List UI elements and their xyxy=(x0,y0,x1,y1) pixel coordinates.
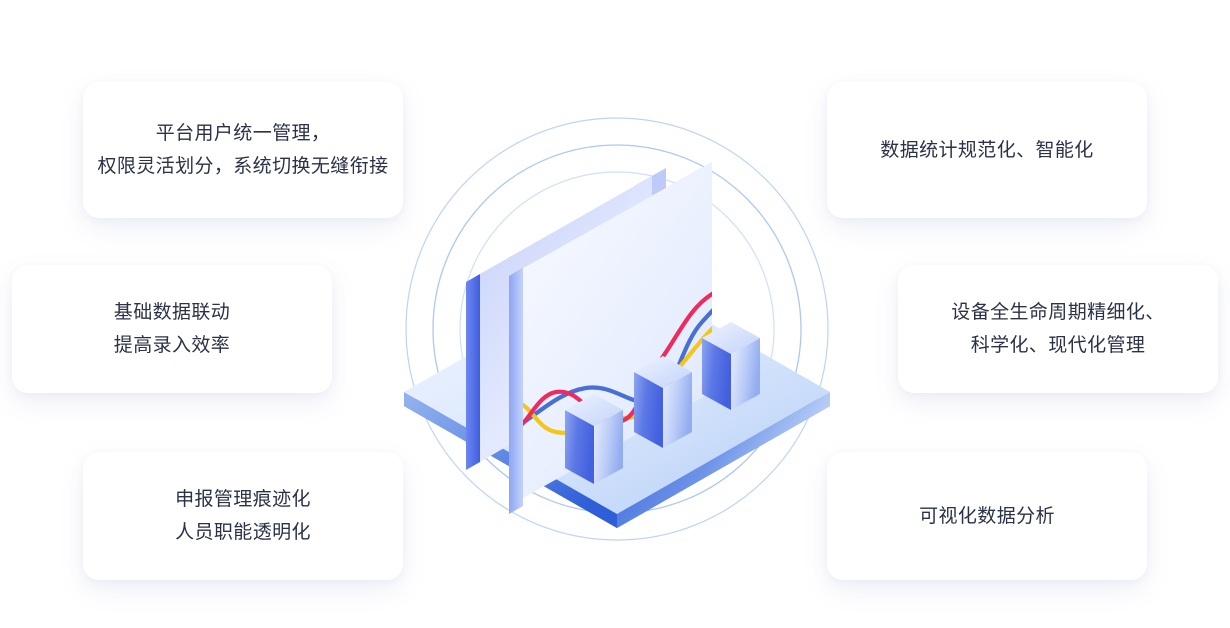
feature-card-text: 平台用户统一管理， 权限灵活划分，系统切换无缝衔接 xyxy=(97,117,388,183)
feature-card-text: 可视化数据分析 xyxy=(919,500,1055,533)
feature-card-declaration-management[interactable]: 申报管理痕迹化 人员职能透明化 xyxy=(83,452,403,580)
bar-2 xyxy=(634,356,692,448)
feature-card-basic-data-linkage[interactable]: 基础数据联动 提高录入效率 xyxy=(12,265,332,393)
feature-card-equipment-lifecycle[interactable]: 设备全生命周期精细化、 科学化、现代化管理 xyxy=(898,265,1218,393)
feature-card-text: 基础数据联动 提高录入效率 xyxy=(114,296,230,362)
feature-card-visual-data-analysis[interactable]: 可视化数据分析 xyxy=(827,452,1147,580)
feature-card-platform-user-management[interactable]: 平台用户统一管理， 权限灵活划分，系统切换无缝衔接 xyxy=(83,82,403,218)
isometric-data-analytics-illustration xyxy=(390,92,845,562)
feature-card-text: 设备全生命周期精细化、 科学化、现代化管理 xyxy=(951,296,1164,362)
feature-card-text: 数据统计规范化、智能化 xyxy=(880,134,1093,167)
feature-card-data-statistics[interactable]: 数据统计规范化、智能化 xyxy=(827,82,1147,218)
feature-highlights-page: 平台用户统一管理， 权限灵活划分，系统切换无缝衔接 基础数据联动 提高录入效率 … xyxy=(0,0,1230,628)
bar-3 xyxy=(702,322,760,410)
feature-card-text: 申报管理痕迹化 人员职能透明化 xyxy=(175,483,311,549)
bar-1 xyxy=(565,394,623,484)
